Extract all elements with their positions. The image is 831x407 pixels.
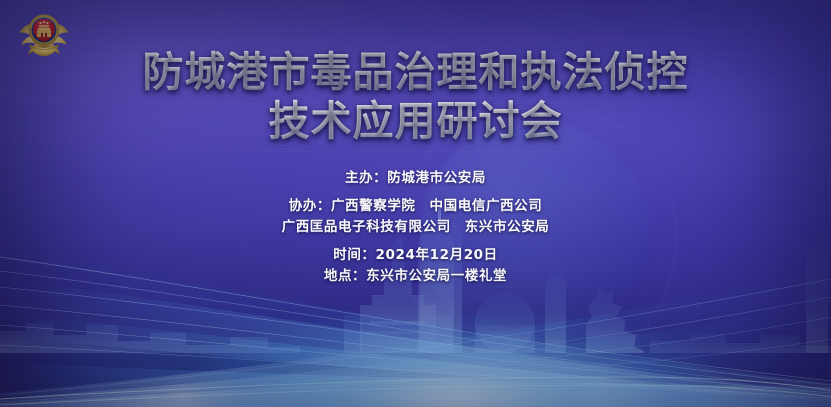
coorganizer-label: 协办： — [289, 198, 331, 214]
place-line: 地点：东兴市公安局一楼礼堂 — [0, 266, 831, 287]
title-line-1: 防城港市毒品治理和执法侦控 — [0, 48, 831, 97]
banner-content: 防城港市毒品治理和执法侦控 技术应用研讨会 主办：防城港市公安局 协办：广西警察… — [0, 0, 831, 407]
coorganizer-1a: 广西警察学院 — [331, 198, 416, 214]
conference-banner: 防城港市毒品治理和执法侦控 技术应用研讨会 主办：防城港市公安局 协办：广西警察… — [0, 0, 831, 407]
time-value: 2024年12月20日 — [376, 247, 498, 263]
coorganizer-1b: 中国电信广西公司 — [430, 198, 543, 214]
place-value: 东兴市公安局一楼礼堂 — [366, 268, 507, 284]
title-line-2: 技术应用研讨会 — [0, 97, 831, 146]
coorganizer-line-1: 协办：广西警察学院中国电信广西公司 — [0, 196, 831, 217]
organizer-block: 主办：防城港市公安局 协办：广西警察学院中国电信广西公司 广西匡品电子科技有限公… — [0, 168, 831, 238]
host-value: 防城港市公安局 — [387, 170, 486, 186]
meta-block: 时间：2024年12月20日 地点：东兴市公安局一楼礼堂 — [0, 245, 831, 287]
coorganizer-line-2: 广西匡品电子科技有限公司东兴市公安局 — [0, 217, 831, 238]
place-label: 地点： — [324, 268, 366, 284]
time-label: 时间： — [333, 247, 375, 263]
coorganizer-2b: 东兴市公安局 — [465, 219, 550, 235]
banner-title: 防城港市毒品治理和执法侦控 技术应用研讨会 — [0, 48, 831, 146]
coorganizer-2a: 广西匡品电子科技有限公司 — [282, 219, 451, 235]
host-label: 主办： — [345, 170, 387, 186]
host-line: 主办：防城港市公安局 — [0, 168, 831, 189]
time-line: 时间：2024年12月20日 — [0, 245, 831, 266]
